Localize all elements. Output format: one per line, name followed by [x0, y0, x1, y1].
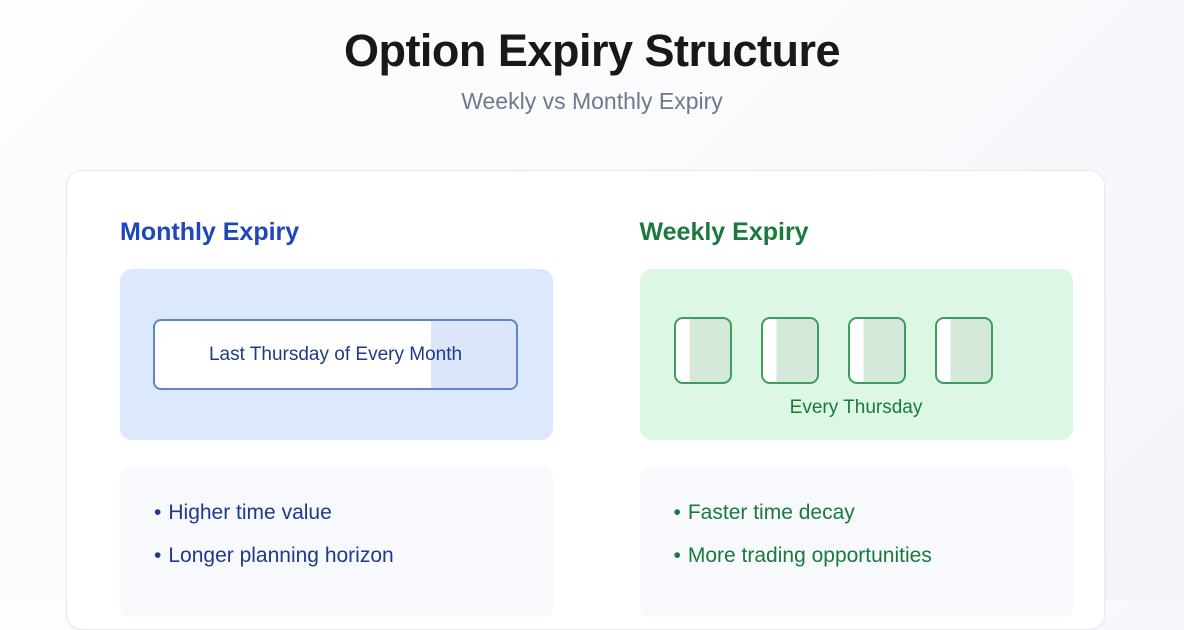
list-item: •Longer planning horizon: [154, 534, 553, 577]
monthly-expiry-heading: Monthly Expiry: [120, 216, 586, 248]
weekly-expiry-box-4: [935, 317, 993, 384]
page-root: Option Expiry Structure Weekly vs Monthl…: [0, 0, 1184, 600]
monthly-expiry-visual: Last Thursday of Every Month: [120, 269, 553, 440]
weekly-expiry-column: Weekly Expiry Every Thursday •Faster tim…: [586, 171, 1105, 617]
page-subtitle: Weekly vs Monthly Expiry: [0, 86, 1184, 116]
weekly-expiry-box-3: [848, 317, 906, 384]
page-header: Option Expiry Structure Weekly vs Monthl…: [0, 0, 1184, 116]
bullet-dot-icon: •: [674, 544, 681, 567]
list-item-label: More trading opportunities: [688, 544, 932, 567]
weekly-expiry-box-2: [761, 317, 819, 384]
list-item: •Higher time value: [154, 491, 553, 534]
list-item: •Faster time decay: [674, 491, 1073, 534]
bullet-dot-icon: •: [154, 501, 161, 524]
comparison-columns: Monthly Expiry Last Thursday of Every Mo…: [67, 171, 1104, 617]
monthly-expiry-bar: Last Thursday of Every Month: [153, 319, 518, 390]
weekly-expiry-box-row: [674, 317, 993, 384]
weekly-expiry-visual: Every Thursday: [640, 269, 1073, 440]
bullet-dot-icon: •: [154, 544, 161, 567]
comparison-card: Monthly Expiry Last Thursday of Every Mo…: [66, 170, 1105, 630]
weekly-expiry-benefits-panel: •Faster time decay •More trading opportu…: [640, 467, 1073, 617]
monthly-expiry-column: Monthly Expiry Last Thursday of Every Mo…: [67, 171, 586, 617]
weekly-expiry-heading: Weekly Expiry: [640, 216, 1105, 248]
list-item: •More trading opportunities: [674, 534, 1073, 577]
monthly-expiry-bar-label: Last Thursday of Every Month: [209, 343, 462, 367]
list-item-label: Higher time value: [168, 501, 331, 524]
list-item-label: Faster time decay: [688, 501, 855, 524]
page-title: Option Expiry Structure: [0, 22, 1184, 80]
weekly-expiry-box-1: [674, 317, 732, 384]
bullet-dot-icon: •: [674, 501, 681, 524]
list-item-label: Longer planning horizon: [168, 544, 393, 567]
weekly-expiry-caption: Every Thursday: [640, 396, 1073, 420]
monthly-expiry-benefits-panel: •Higher time value •Longer planning hori…: [120, 467, 553, 617]
